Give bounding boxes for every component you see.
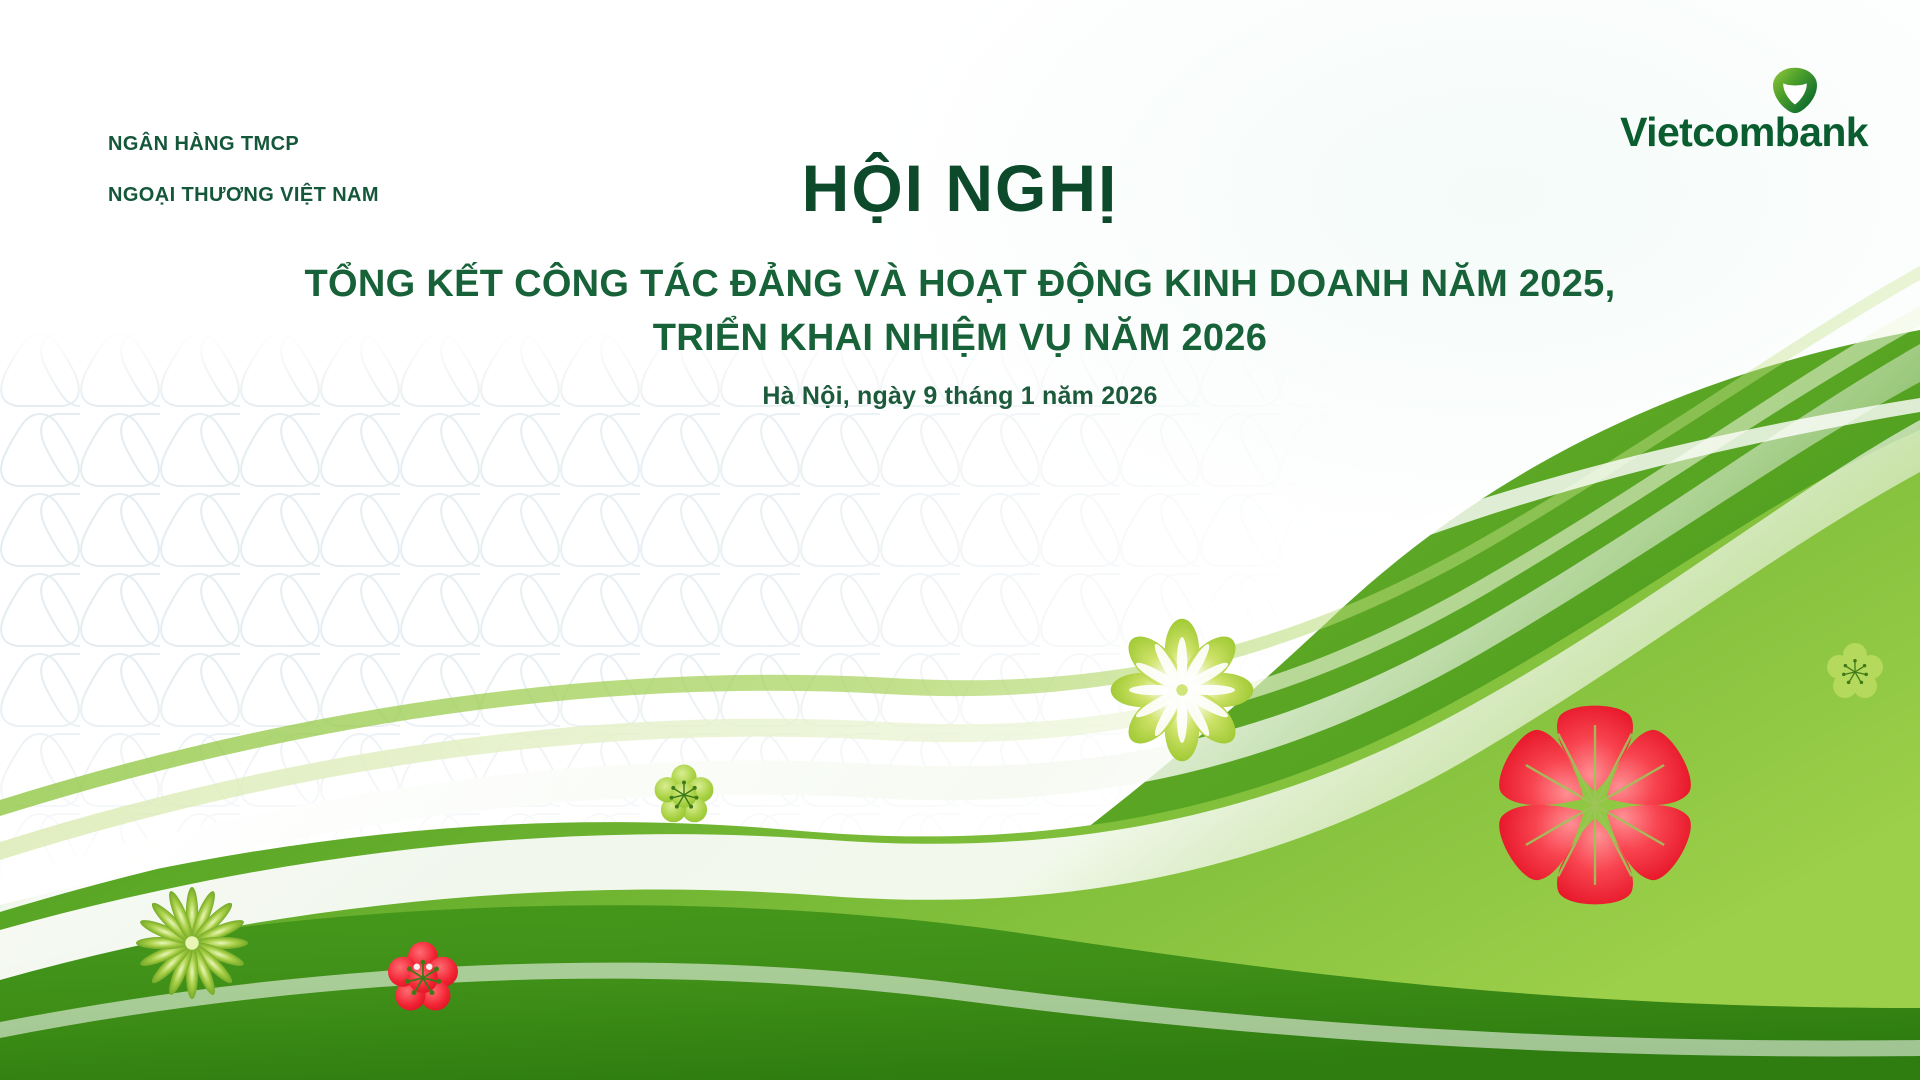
flower-blossom-green-small [655,765,714,823]
subtitle-line-1: TỔNG KẾT CÔNG TÁC ĐẢNG VÀ HOẠT ĐỘNG KINH… [0,258,1920,312]
flower-chrysanthemum-yellowgreen [1111,619,1254,762]
flower-peach-red-small [388,942,458,1011]
page-subtitle: TỔNG KẾT CÔNG TÁC ĐẢNG VÀ HOẠT ĐỘNG KINH… [0,258,1920,366]
event-date: Hà Nội, ngày 9 tháng 1 năm 2026 [0,382,1920,411]
conference-banner-slide: NGÂN HÀNG TMCP NGOẠI THƯƠNG VIỆT NAM Vie… [0,0,1920,1080]
flower-apricot-red-large [1490,706,1700,905]
page-title: HỘI NGHỊ [0,150,1920,226]
flower-sunburst-green [136,887,248,999]
background-tessellation-pattern [0,330,1460,890]
vietcombank-wordmark: Vietcombank [1620,112,1868,153]
flower-blossom-lightgreen-right [1827,643,1883,698]
subtitle-line-2: TRIỂN KHAI NHIỆM VỤ NĂM 2026 [0,312,1920,366]
